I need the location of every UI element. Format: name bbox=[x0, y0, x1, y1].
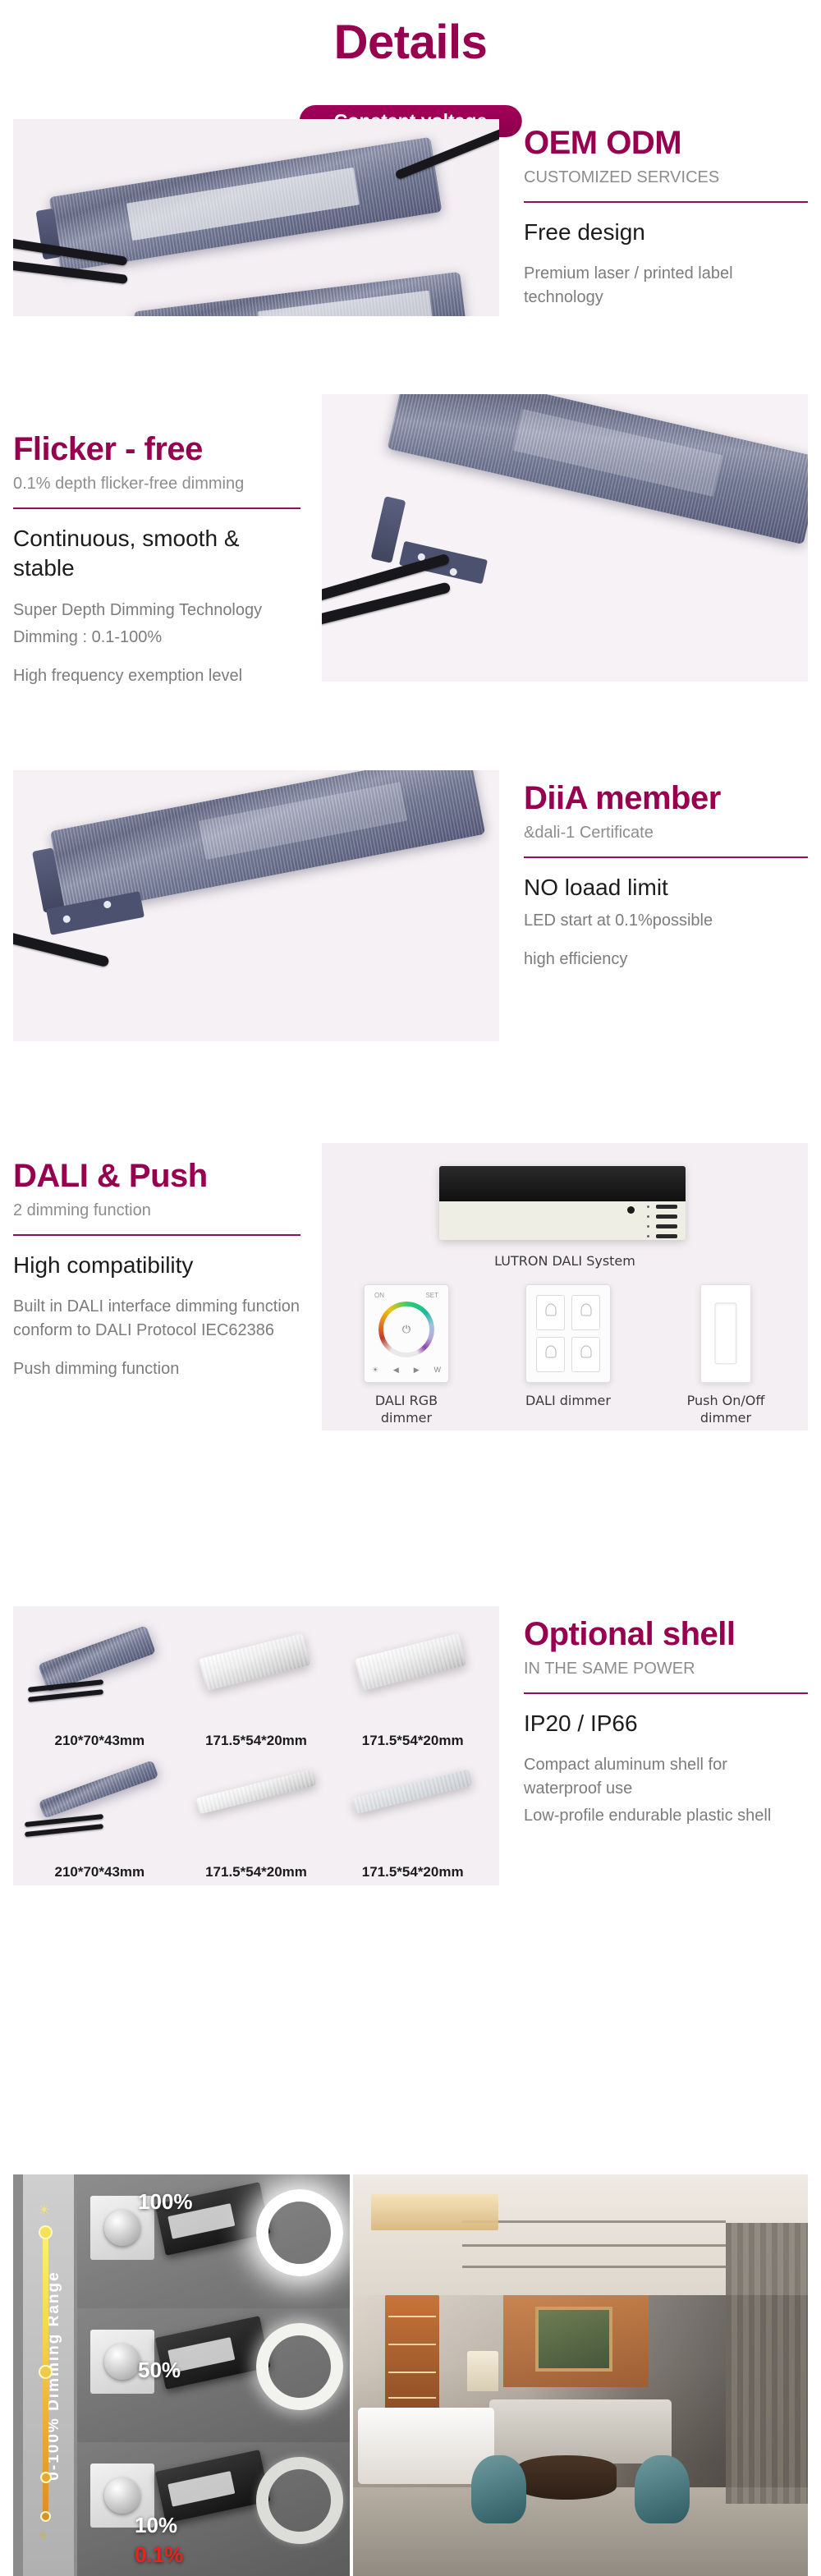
dali-text: DALI & Push 2 dimming function High comp… bbox=[13, 1158, 300, 1381]
dali-subtitle: 2 dimming function bbox=[13, 1200, 300, 1221]
dali-body2: Push dimming function bbox=[13, 1357, 300, 1381]
flicker-body3: High frequency exemption level bbox=[13, 664, 300, 688]
lutron-caption: LUTRON DALI System bbox=[322, 1253, 808, 1270]
dimming-step-label: 10% bbox=[135, 2513, 177, 2538]
dimming-demo-panel: 0-100% Dimming Range ☀ ☀ 100% 50% bbox=[13, 2174, 350, 2576]
divider bbox=[524, 201, 808, 203]
flicker-lead: Continuous, smooth & stable bbox=[13, 524, 300, 584]
dimmer-key-ch2[interactable] bbox=[571, 1295, 600, 1330]
dimmer-key-ch4[interactable] bbox=[571, 1337, 600, 1372]
push-switch-panel[interactable] bbox=[700, 1284, 751, 1383]
flicker-photo bbox=[322, 394, 808, 682]
dali-rgb-dimmer-item[interactable]: ON SET ⏻ ☀ ◀ ▶ W DALI RGB dimmer bbox=[361, 1284, 452, 1427]
flicker-body: Super Depth Dimming Technology bbox=[13, 599, 300, 622]
sun-bright-icon: ☀ bbox=[38, 2202, 50, 2219]
lutron-indicator-dots bbox=[647, 1205, 649, 1240]
section-diia: DiiA member &dali-1 Certificate NO loaad… bbox=[0, 813, 821, 1018]
flicker-title: Flicker - free bbox=[13, 431, 300, 468]
led-strip-ring-icon bbox=[256, 2189, 343, 2276]
dimming-node-100 bbox=[39, 2225, 53, 2239]
rgb-dimmer-panel[interactable]: ON SET ⏻ ☀ ◀ ▶ W bbox=[364, 1284, 449, 1383]
dimming-node-50 bbox=[39, 2365, 53, 2379]
heatsink-fins-icon bbox=[39, 1760, 159, 1818]
dimming-photo-10: 10% 0.1% bbox=[77, 2442, 350, 2576]
table-lamp bbox=[467, 2351, 499, 2391]
shell-dimension: 171.5*54*20mm bbox=[178, 1864, 335, 1880]
next-icon: ▶ bbox=[414, 1366, 420, 1375]
dimming-step-label: 50% bbox=[138, 2358, 181, 2383]
rgb-top-icons: ON SET bbox=[365, 1292, 448, 1299]
shell-dimension: 171.5*54*20mm bbox=[178, 1733, 335, 1749]
divider bbox=[13, 507, 300, 509]
cable-icon-2 bbox=[28, 1689, 103, 1702]
push-dimmer-caption: Push On/Off dimmer bbox=[677, 1393, 775, 1427]
shell-cell-1: 210*70*43mm bbox=[21, 1621, 178, 1752]
dimming-photo-stack: 100% 50% 10% 0.1% bbox=[77, 2174, 350, 2576]
diia-title: DiiA member bbox=[524, 780, 808, 817]
section-oem: OEM ODM CUSTOMIZED SERVICES Free design … bbox=[0, 156, 821, 287]
shell-lead: IP20 / IP66 bbox=[524, 1709, 808, 1738]
lutron-screen bbox=[439, 1166, 686, 1201]
diia-photo bbox=[13, 770, 499, 1041]
white-icon: W bbox=[434, 1366, 442, 1375]
oem-body: Premium laser / printed label technology bbox=[524, 262, 808, 310]
interior-scene-image bbox=[353, 2174, 808, 2576]
shell-body2: Low-profile endurable plastic shell bbox=[524, 1804, 808, 1828]
dimmer-key-ch1[interactable] bbox=[536, 1295, 565, 1330]
led-strip-ring-icon bbox=[256, 2323, 343, 2410]
rgb-bottom-icons[interactable]: ☀ ◀ ▶ W bbox=[365, 1366, 448, 1375]
rgb-set-label: SET bbox=[425, 1292, 438, 1299]
diia-lead: NO loaad limit bbox=[524, 873, 808, 902]
shell-dimension: 210*70*43mm bbox=[21, 1733, 178, 1749]
diia-body: LED start at 0.1%possible bbox=[524, 909, 808, 933]
dali-dimmer-item[interactable]: DALI dimmer bbox=[523, 1284, 613, 1410]
oem-lead: Free design bbox=[524, 218, 808, 247]
led-strip-ring-icon bbox=[256, 2457, 343, 2544]
section-flicker: Flicker - free 0.1% depth flicker-free d… bbox=[0, 448, 821, 653]
divider bbox=[13, 1234, 300, 1236]
plastic-texture-icon bbox=[355, 1633, 466, 1691]
shell-cell-2: 171.5*54*20mm bbox=[178, 1621, 335, 1752]
power-icon[interactable]: ⏻ bbox=[402, 1323, 410, 1336]
plastic-texture-icon bbox=[195, 1770, 316, 1815]
dimming-node-10 bbox=[40, 2472, 52, 2483]
dimming-min-label: 0.1% bbox=[135, 2542, 183, 2568]
lutron-dali-system-image bbox=[439, 1166, 686, 1240]
shell-text: Optional shell IN THE SAME POWER IP20 / … bbox=[524, 1616, 808, 1828]
dali-dimmer-caption: DALI dimmer bbox=[523, 1393, 613, 1410]
curtains bbox=[726, 2223, 808, 2504]
flicker-subtitle: 0.1% depth flicker-free dimming bbox=[13, 473, 300, 494]
wall-artwork bbox=[535, 2307, 612, 2371]
cove-light bbox=[371, 2194, 498, 2230]
pouf-right bbox=[635, 2455, 689, 2523]
shell-subtitle: IN THE SAME POWER bbox=[524, 1658, 808, 1679]
shell-dimension: 171.5*54*20mm bbox=[334, 1733, 491, 1749]
coffee-table bbox=[516, 2455, 617, 2500]
dimmer-keypad[interactable] bbox=[536, 1295, 600, 1372]
rgb-on-label: ON bbox=[374, 1292, 384, 1299]
oem-photo bbox=[13, 119, 499, 316]
divider bbox=[524, 1692, 808, 1694]
shell-body: Compact aluminum shell for waterproof us… bbox=[524, 1753, 808, 1801]
dimming-step-label: 100% bbox=[138, 2189, 193, 2215]
dali-title: DALI & Push bbox=[13, 1158, 300, 1195]
plastic-texture-icon bbox=[199, 1633, 310, 1691]
diia-subtitle: &dali-1 Certificate bbox=[524, 822, 808, 843]
divider bbox=[524, 856, 808, 858]
pouf-left bbox=[471, 2455, 525, 2523]
diia-text: DiiA member &dali-1 Certificate NO loaad… bbox=[524, 780, 808, 971]
plastic-texture-icon bbox=[352, 1770, 473, 1815]
flicker-text: Flicker - free 0.1% depth flicker-free d… bbox=[13, 431, 300, 688]
oem-subtitle: CUSTOMIZED SERVICES bbox=[524, 167, 808, 188]
shell-cell-3: 171.5*54*20mm bbox=[334, 1621, 491, 1752]
flicker-body2: Dimming : 0.1-100% bbox=[13, 626, 300, 650]
brightness-icon: ☀ bbox=[372, 1366, 378, 1375]
shell-cell-6: 171.5*54*20mm bbox=[334, 1752, 491, 1884]
shell-dimension: 171.5*54*20mm bbox=[334, 1864, 491, 1880]
oem-title: OEM ODM bbox=[524, 125, 808, 162]
shell-cell-4: 210*70*43mm bbox=[21, 1752, 178, 1884]
dimming-photo-100: 100% bbox=[77, 2174, 350, 2308]
dimming-photo-50: 50% bbox=[77, 2308, 350, 2442]
page-title: Details bbox=[0, 15, 821, 70]
push-dimmer-item[interactable]: Push On/Off dimmer bbox=[677, 1284, 775, 1427]
shell-cell-5: 171.5*54*20mm bbox=[178, 1752, 335, 1884]
section-dali: DALI & Push 2 dimming function High comp… bbox=[0, 1174, 821, 1429]
lutron-ir-dot-icon bbox=[627, 1206, 635, 1214]
section-shell: 210*70*43mm 171.5*54*20mm 171.5*54*20mm bbox=[0, 1642, 821, 1897]
dali-lead: High compatibility bbox=[13, 1251, 300, 1280]
dimmer-key-ch3[interactable] bbox=[536, 1337, 565, 1372]
living-room-render bbox=[353, 2174, 808, 2576]
main-sofa bbox=[489, 2399, 672, 2464]
dali-devices-panel: LUTRON DALI System ON SET ⏻ ☀ ◀ ▶ W DALI… bbox=[322, 1143, 808, 1430]
rgb-dimmer-caption: DALI RGB dimmer bbox=[361, 1393, 452, 1427]
shell-dimension: 210*70*43mm bbox=[21, 1864, 178, 1880]
diia-body2: high efficiency bbox=[524, 948, 808, 971]
dimming-node-min bbox=[40, 2511, 51, 2522]
oem-text: OEM ODM CUSTOMIZED SERVICES Free design … bbox=[524, 125, 808, 310]
shell-grid: 210*70*43mm 171.5*54*20mm 171.5*54*20mm bbox=[21, 1621, 491, 1884]
prev-icon: ◀ bbox=[393, 1366, 399, 1375]
shell-grid-panel: 210*70*43mm 171.5*54*20mm 171.5*54*20mm bbox=[13, 1606, 499, 1885]
dali-body: Built in DALI interface dimming function… bbox=[13, 1295, 300, 1343]
sun-dim-icon: ☀ bbox=[38, 2529, 48, 2543]
shell-title: Optional shell bbox=[524, 1616, 808, 1653]
section-dimming-range: 0-100% Dimming Range ☀ ☀ 100% 50% bbox=[0, 2174, 821, 2576]
dali-dimmer-panel[interactable] bbox=[525, 1284, 611, 1383]
bookshelf bbox=[385, 2295, 439, 2412]
lutron-buttons[interactable] bbox=[656, 1205, 677, 1240]
